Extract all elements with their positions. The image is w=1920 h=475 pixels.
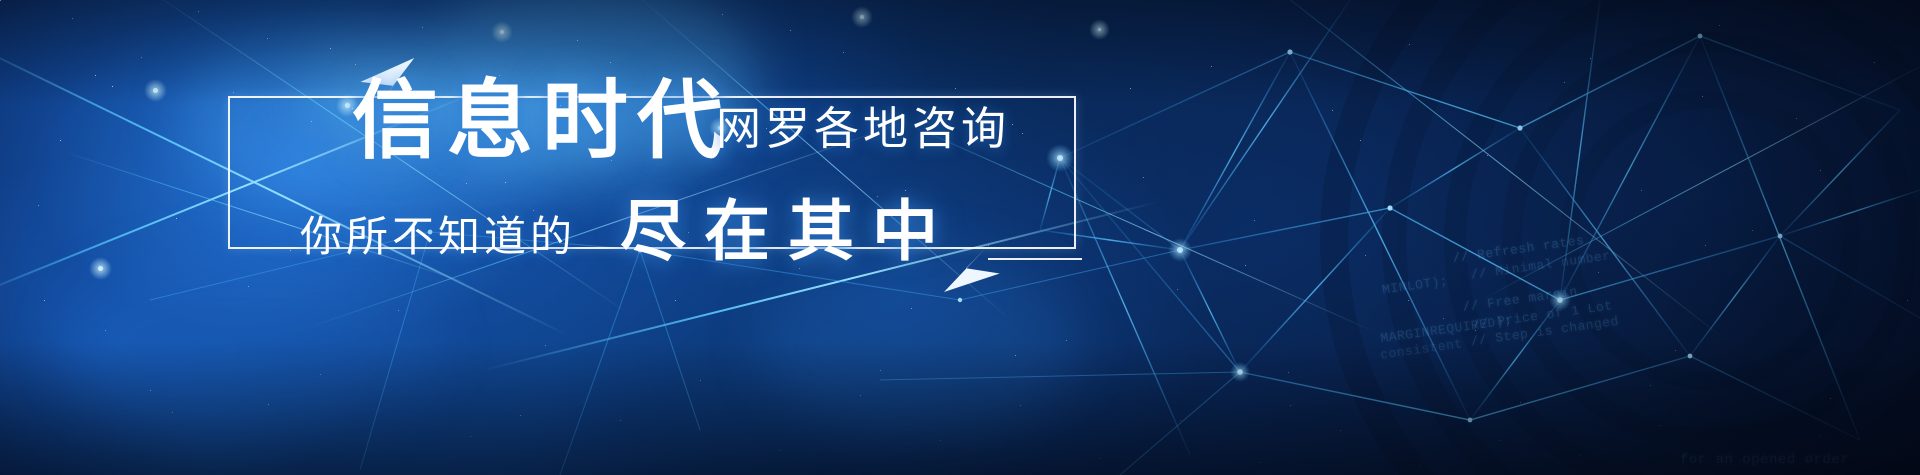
banner-subtitle-large: 尽在其中: [620, 200, 956, 266]
banner-title-main: 信息时代: [352, 78, 732, 164]
horizontal-rule-decoration: [988, 258, 1082, 260]
banner-title-sub: 网罗各地咨询: [716, 106, 1010, 151]
hero-banner: // Refresh rates// Minimal numberMINLOT)…: [0, 0, 1920, 475]
headline-group: 信息时代 网罗各地咨询 你所不知道的 尽在其中: [0, 0, 1920, 475]
banner-subtitle-small: 你所不知道的: [300, 216, 576, 258]
